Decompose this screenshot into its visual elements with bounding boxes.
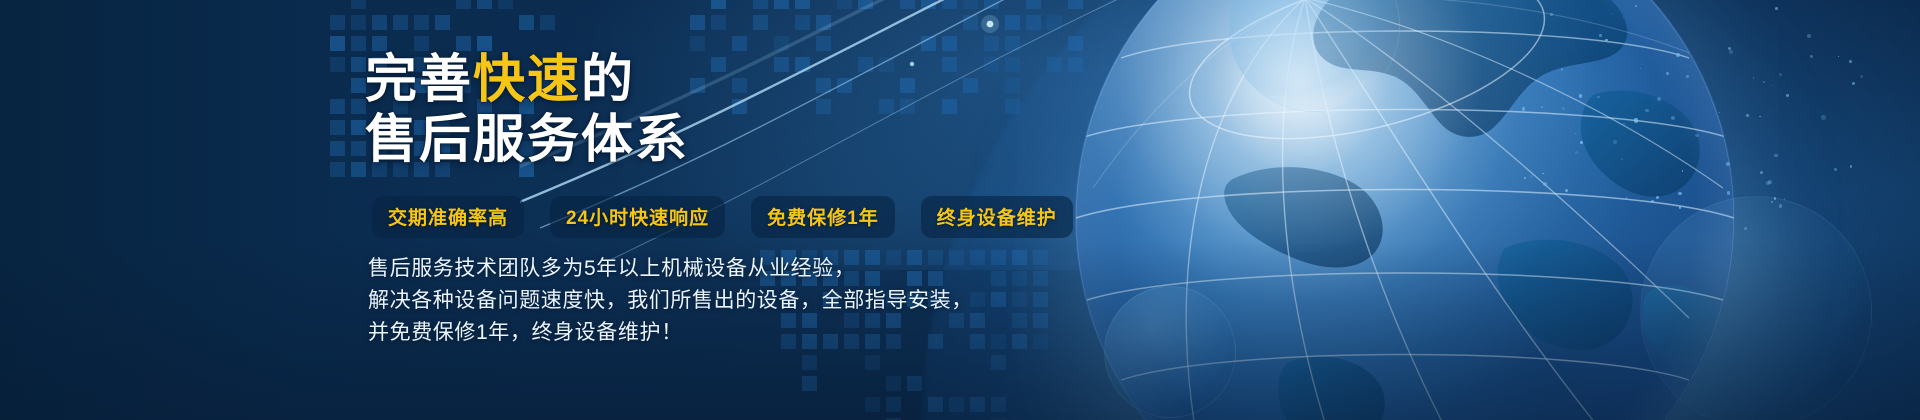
- feature-badge[interactable]: 交期准确率高: [372, 196, 524, 238]
- headline-line1: 完善快速的: [365, 51, 635, 109]
- headline: 完善快速的 售后服务体系: [365, 52, 689, 168]
- headline-line2: 售后服务体系: [365, 112, 689, 168]
- description-line: 并免费保修1年，终身设备维护！: [368, 317, 973, 349]
- feature-badge-list: 交期准确率高 24小时快速响应 免费保修1年 终身设备维护: [372, 196, 1073, 238]
- description-line: 解决各种设备问题速度快，我们所售出的设备，全部指导安装，: [368, 285, 973, 317]
- feature-badge[interactable]: 免费保修1年: [751, 196, 895, 238]
- headline-line1-part1: 完善: [365, 51, 473, 109]
- headline-line1-part3: 的: [581, 51, 635, 109]
- service-banner: 完善快速的 售后服务体系 交期准确率高 24小时快速响应 免费保修1年 终身设备…: [0, 0, 1920, 420]
- description-line: 售后服务技术团队多为5年以上机械设备从业经验，: [368, 253, 973, 285]
- feature-badge[interactable]: 终身设备维护: [921, 196, 1073, 238]
- description-paragraph: 售后服务技术团队多为5年以上机械设备从业经验， 解决各种设备问题速度快，我们所售…: [368, 253, 973, 349]
- headline-line1-highlight: 快速: [473, 51, 581, 109]
- feature-badge[interactable]: 24小时快速响应: [550, 196, 725, 238]
- banner-content: 完善快速的 售后服务体系 交期准确率高 24小时快速响应 免费保修1年 终身设备…: [0, 0, 1920, 420]
